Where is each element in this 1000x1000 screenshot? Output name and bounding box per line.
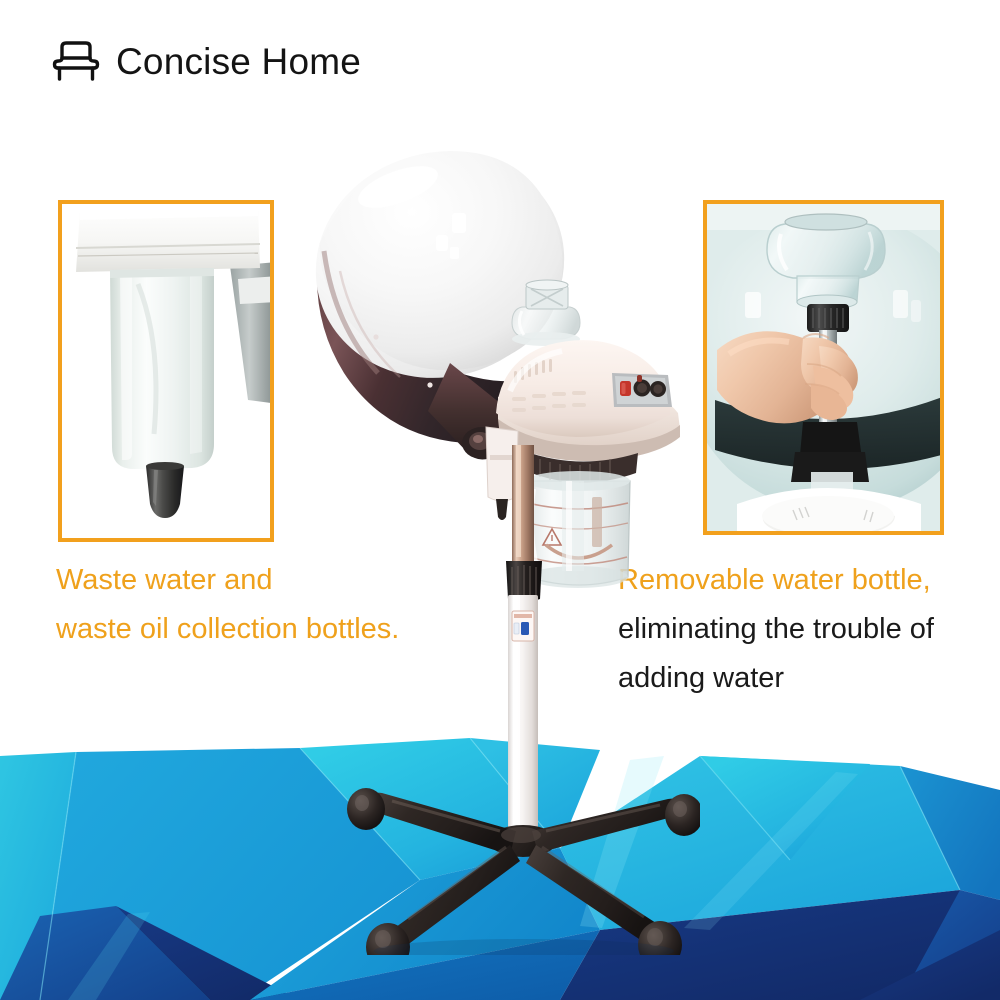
control-panel <box>612 373 672 407</box>
inset-waste-bottle <box>58 200 274 542</box>
brand-name: Concise Home <box>116 43 361 80</box>
product-image-hair-steamer <box>300 125 700 955</box>
brand-logo: Concise Home <box>50 38 361 84</box>
waste-bottle-photo <box>62 204 270 538</box>
inset-removable-bottle <box>703 200 944 535</box>
removable-bottle-photo <box>707 204 940 531</box>
product-marketing-image: Concise Home <box>0 0 1000 1000</box>
armchair-icon <box>50 38 102 84</box>
